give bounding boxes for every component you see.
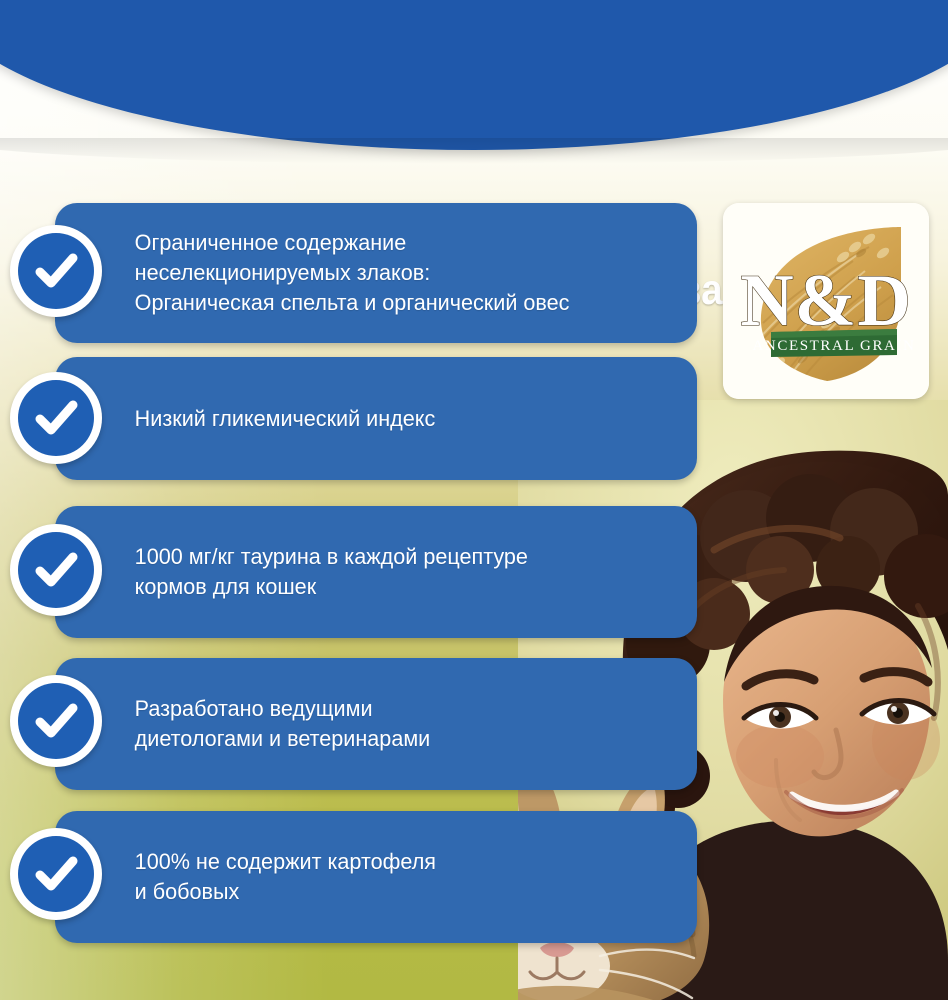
check-badge-2 bbox=[10, 372, 102, 464]
benefit-text: Разработано ведущими диетологами и ветер… bbox=[55, 694, 448, 754]
nd-ancestral-grain-logo: N&D ANCESTRAL GRAIN bbox=[723, 203, 929, 399]
benefit-text: 1000 мг/кг таурина в каждой рецептуре ко… bbox=[55, 542, 545, 602]
check-icon bbox=[30, 392, 82, 444]
benefit-text: Ограниченное содержание неселекционируем… bbox=[55, 228, 587, 318]
check-badge-fill bbox=[18, 233, 94, 309]
benefit-card-limited-ancient-grains: Ограниченное содержание неселекционируем… bbox=[55, 203, 697, 343]
logo-graphic: N&D ANCESTRAL GRAIN bbox=[723, 203, 929, 399]
check-badge-fill bbox=[18, 836, 94, 912]
infographic-page: Ключевые преимущества bbox=[0, 0, 948, 1000]
benefit-text: Низкий гликемический индекс bbox=[55, 404, 453, 434]
check-icon bbox=[30, 245, 82, 297]
check-icon bbox=[30, 695, 82, 747]
benefit-card-low-glycemic-index: Низкий гликемический индекс bbox=[55, 357, 697, 480]
check-icon bbox=[30, 848, 82, 900]
benefit-card-no-potato-no-legumes: 100% не содержит картофеля и бобовых bbox=[55, 811, 697, 943]
benefit-text: 100% не содержит картофеля и бобовых bbox=[55, 847, 453, 907]
benefit-card-developed-by-experts: Разработано ведущими диетологами и ветер… bbox=[55, 658, 697, 790]
logo-ribbon-text: ANCESTRAL GRAIN bbox=[752, 338, 915, 354]
check-badge-4 bbox=[10, 675, 102, 767]
check-badge-fill bbox=[18, 380, 94, 456]
benefit-card-taurine-content: 1000 мг/кг таурина в каждой рецептуре ко… bbox=[55, 506, 697, 638]
check-badge-fill bbox=[18, 532, 94, 608]
check-icon bbox=[30, 544, 82, 596]
check-badge-1 bbox=[10, 225, 102, 317]
check-badge-5 bbox=[10, 828, 102, 920]
check-badge-fill bbox=[18, 683, 94, 759]
check-badge-3 bbox=[10, 524, 102, 616]
